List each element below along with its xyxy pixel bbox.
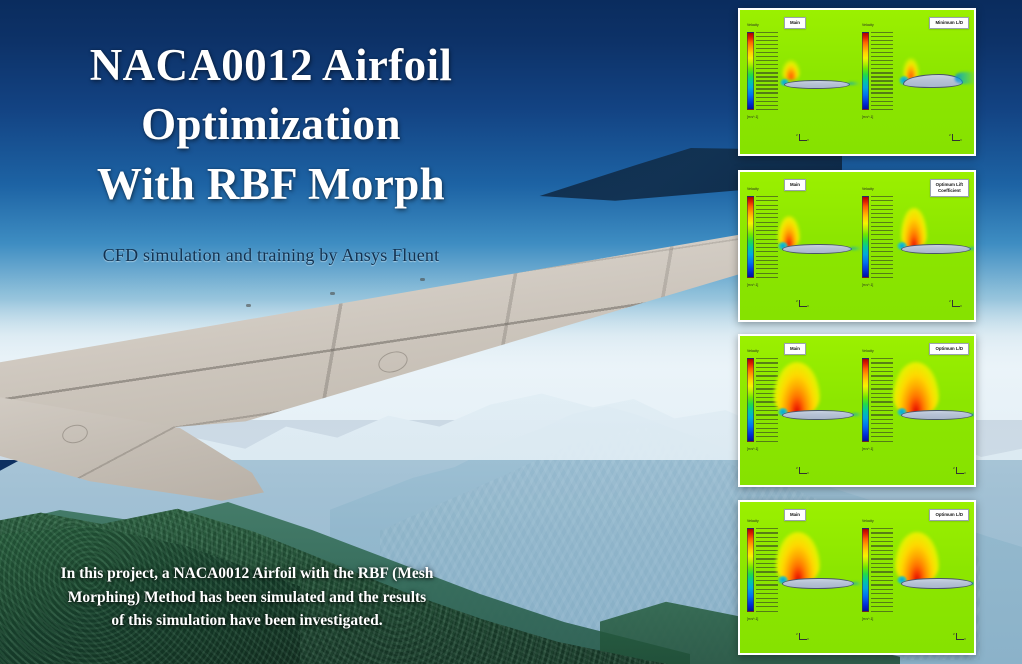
cfd-view-left: Velocity [m s^-1] Z X — [740, 502, 857, 653]
cfd-result-panel[interactable]: Velocity [m s^-1] Z X — [738, 334, 976, 487]
airfoil-geometry — [901, 410, 973, 420]
colorbar-gradient — [862, 358, 869, 442]
cfd-view-left: Velocity [m s^-1] Z X — [740, 172, 857, 320]
colorbar: Velocity [m s^-1] — [747, 196, 779, 278]
cfd-result-panel[interactable]: Velocity [m s^-1] Z X — [738, 170, 976, 322]
axis-triad-icon: Z X — [949, 300, 963, 312]
colorbar: Velocity [m s^-1] — [862, 196, 894, 278]
colorbar: Velocity [m s^-1] — [862, 528, 894, 612]
colorbar-gradient — [862, 196, 869, 278]
cfd-label-main: Main — [784, 343, 806, 355]
airfoil-geometry — [901, 244, 971, 254]
cfd-wake — [955, 72, 976, 84]
colorbar-unit: [m s^-1] — [862, 617, 902, 621]
colorbar: Velocity [m s^-1] — [862, 32, 894, 110]
cfd-label-main: Main — [784, 509, 806, 521]
cfd-label-main: Main — [784, 17, 806, 29]
colorbar-gradient — [747, 528, 754, 612]
colorbar-gradient — [862, 528, 869, 612]
axis-triad-icon: Z X — [796, 134, 810, 146]
colorbar-ticks — [871, 32, 893, 110]
cfd-view-right: Velocity [m s^-1] Z X — [857, 172, 974, 320]
wing-bolt-icon — [330, 292, 335, 295]
cfd-wake — [971, 413, 976, 416]
cfd-wake — [969, 247, 976, 250]
caption-line-2: Morphing) Method has been simulated and … — [22, 586, 472, 610]
colorbar: Velocity [m s^-1] — [747, 528, 779, 612]
colorbar-title: Velocity — [862, 187, 902, 191]
airfoil-geometry — [782, 578, 854, 589]
cfd-label-case: Optimum Lift Coefficient — [930, 179, 969, 197]
airfoil-geometry — [782, 244, 852, 254]
colorbar-unit: [m s^-1] — [747, 617, 787, 621]
cfd-label-case: Minimum L/D — [929, 17, 969, 29]
colorbar-ticks — [756, 196, 778, 278]
cfd-label-case: Optimum L/D — [929, 343, 969, 355]
colorbar-title: Velocity — [747, 187, 787, 191]
cfd-wake — [971, 582, 976, 585]
colorbar-title: Velocity — [747, 349, 787, 353]
colorbar-title: Velocity — [747, 519, 787, 523]
subtitle: CFD simulation and training by Ansys Flu… — [36, 245, 506, 266]
caption-line-1: In this project, a NACA0012 Airfoil with… — [22, 562, 472, 586]
colorbar-title: Velocity — [862, 519, 902, 523]
cfd-label-main: Main — [784, 179, 806, 191]
cfd-result-panel[interactable]: Velocity [m s^-1] Z X — [738, 500, 976, 655]
colorbar-title: Velocity — [862, 349, 902, 353]
colorbar-unit: [m s^-1] — [862, 115, 902, 119]
page-title: NACA0012 Airfoil Optimization With RBF M… — [36, 36, 506, 214]
axis-triad-icon: Z X — [953, 633, 967, 645]
colorbar-unit: [m s^-1] — [862, 447, 902, 451]
caption-line-3: of this simulation have been investigate… — [22, 609, 472, 633]
airfoil-geometry — [901, 578, 973, 589]
description-caption: In this project, a NACA0012 Airfoil with… — [22, 562, 472, 633]
colorbar-ticks — [756, 528, 778, 612]
colorbar-gradient — [747, 358, 754, 442]
axis-triad-icon: Z X — [796, 300, 810, 312]
cfd-view-left: Velocity [m s^-1] Z X — [740, 10, 857, 154]
colorbar-title: Velocity — [747, 23, 787, 27]
cfd-label-case: Optimum L/D — [929, 509, 969, 521]
cfd-view-right: Velocity [m s^-1] Z X — [857, 10, 974, 154]
colorbar-ticks — [871, 528, 893, 612]
cfd-view-left: Velocity [m s^-1] Z X — [740, 336, 857, 485]
colorbar-unit: [m s^-1] — [747, 115, 787, 119]
axis-triad-icon: Z X — [953, 467, 967, 479]
axis-triad-icon: Z X — [949, 134, 963, 146]
cfd-view-right: Velocity [m s^-1] Z X — [857, 336, 974, 485]
axis-triad-icon: Z X — [796, 467, 810, 479]
colorbar-ticks — [871, 196, 893, 278]
cfd-hot-plume — [782, 60, 800, 80]
colorbar-ticks — [871, 358, 893, 442]
cfd-view-right: Velocity [m s^-1] Z X — [857, 502, 974, 653]
colorbar-title: Velocity — [862, 23, 902, 27]
title-line-2: Optimization — [36, 95, 506, 154]
colorbar-gradient — [747, 196, 754, 278]
wing-bolt-icon — [246, 304, 251, 307]
title-line-1: NACA0012 Airfoil — [36, 36, 506, 95]
airfoil-geometry — [784, 80, 850, 89]
wing-bolt-icon — [420, 278, 425, 281]
cfd-result-panel[interactable]: Velocity [m s^-1] Z X — [738, 8, 976, 156]
slide-canvas: NACA0012 Airfoil Optimization With RBF M… — [0, 0, 1022, 664]
airfoil-geometry — [782, 410, 854, 420]
axis-triad-icon: Z X — [796, 633, 810, 645]
colorbar-unit: [m s^-1] — [747, 447, 787, 451]
colorbar-gradient — [862, 32, 869, 110]
colorbar-gradient — [747, 32, 754, 110]
colorbar-unit: [m s^-1] — [747, 283, 787, 287]
title-line-3: With RBF Morph — [36, 155, 506, 214]
colorbar: Velocity [m s^-1] — [747, 32, 779, 110]
colorbar: Velocity [m s^-1] — [862, 358, 894, 442]
colorbar-ticks — [756, 32, 778, 110]
colorbar-unit: [m s^-1] — [862, 283, 902, 287]
